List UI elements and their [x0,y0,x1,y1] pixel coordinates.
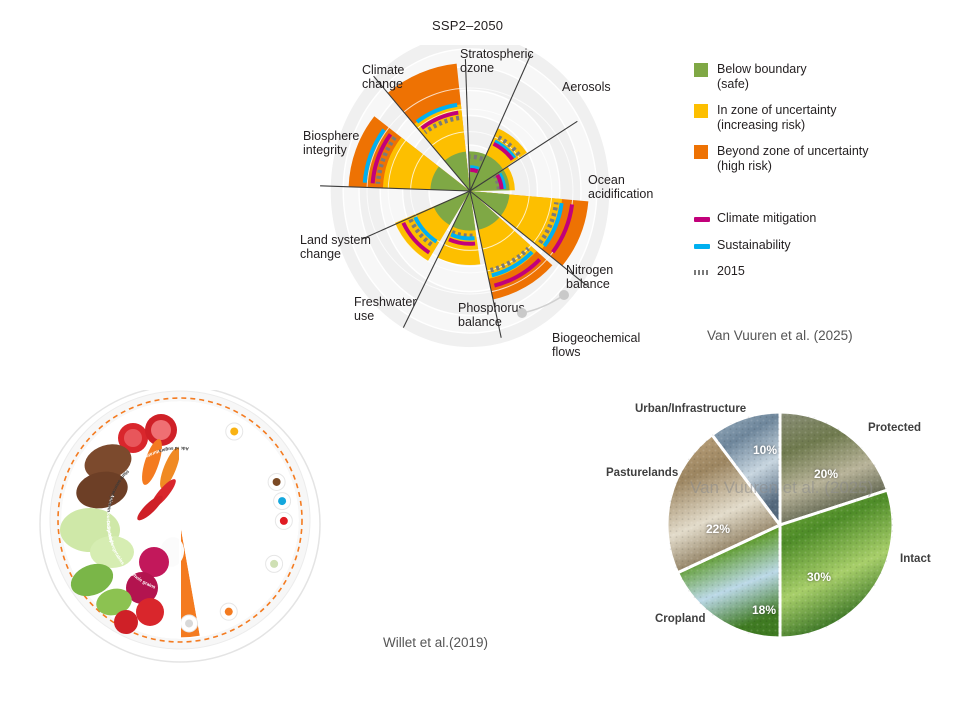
radar-axis-label-line: Land system [300,233,371,247]
radar-axis-label-climate-change: Climatechange [362,63,404,91]
plate-badge-icon-animal-sourced-protein [280,517,288,525]
legend-label-beyond-zone-1: Beyond zone of uncertainty [717,144,869,158]
legend-line-dotted-grey [694,270,710,275]
biogeochemical-flows-label-line: Biogeochemical [552,331,640,345]
planetary-health-plate-panel: Whole grainsStarchy vegetablesDairy food… [30,390,330,670]
pie-label-urban: Urban/Infrastructure [635,403,746,415]
legend-item-2015: 2015 [694,264,944,279]
pie-watermark-citation: Van Vuuren et al. (2025) [690,478,873,498]
radar-axis-label-line: ozone [460,61,494,75]
biogeochemical-dot-right [559,290,569,300]
biogeochemical-flows-label-line: flows [552,345,580,359]
citation-van-vuuren: Van Vuuren et al. (2025) [707,328,853,343]
radar-axis-label-line: change [300,247,341,261]
legend-item-zone-uncertainty: In zone of uncertainty (increasing risk) [694,103,944,132]
radar-axis-label-line: Stratospheric [460,47,534,61]
radar-axis-label-aerosols: Aerosols [562,80,611,94]
legend-label-climate-mitigation: Climate mitigation [717,211,816,226]
plate-badge-icon-dairy-foods [278,497,286,505]
planetary-boundaries-panel: SSP2–2050 ClimatechangeStratosphericozon… [0,0,960,370]
radar-axis-label-line: change [362,77,403,91]
legend-label-sustainability: Sustainability [717,238,791,253]
land-use-pie-chart [600,395,960,660]
radar-axis-label-line: Ocean [588,173,625,187]
pie-pct-intact: 30% [807,570,831,584]
radar-axis-label-line: Freshwater [354,295,417,309]
plate-tomato-slice-2-inner [151,420,171,440]
plate-apple-1 [136,598,164,626]
biogeochemical-dot-left [517,308,527,318]
plate-badge-icon-added-sugars [185,619,193,627]
radar-arc-mitigation-stratospheric-ozone [470,170,478,171]
legend-label-2015: 2015 [717,264,745,279]
pie-pct-cropland: 18% [752,603,776,617]
pie-label-intact: Intact [900,553,931,565]
plate-badge-icon-unsaturated-plant-oils [225,608,233,616]
legend-item-beyond-zone: Beyond zone of uncertainty (high risk) [694,144,944,173]
radar-axis-label-line: integrity [303,143,348,157]
legend-label-below-boundary-2: (safe) [717,77,749,91]
radar-axis-label-line: Phosphorus [458,301,525,315]
plate-badge-icon-plant-sourced-protein [270,560,278,568]
radar-axis-label-line: balance [458,315,502,329]
pie-label-cropland: Cropland [655,613,705,625]
plate-apple-2 [114,610,138,634]
planetary-health-plate-figure: Whole grainsStarchy vegetablesDairy food… [30,390,330,670]
pie-label-protected: Protected [868,422,921,434]
biogeochemical-flows-label: Biogeochemicalflows [552,331,640,359]
legend-label-below-boundary-1: Below boundary [717,62,807,76]
legend-label-beyond-zone-2: (high risk) [717,159,772,173]
radar-axis-label-line: Biosphere [303,129,359,143]
radar-legend: Below boundary (safe) In zone of uncerta… [694,62,944,291]
pie-label-pasturelands: Pasturelands [606,467,678,479]
legend-label-zone-uncertainty-2: (increasing risk) [717,118,805,132]
radar-axis-label-line: Nitrogen [566,263,613,277]
legend-item-below-boundary: Below boundary (safe) [694,62,944,91]
plate-badge-icon-starchy-vegetables [273,478,281,486]
citation-willet: Willet et al.(2019) [383,635,488,650]
radar-chart-title: SSP2–2050 [432,18,503,33]
land-use-pie-panel: Urban/InfrastructureProtectedPastureland… [600,395,960,660]
legend-swatch-yellow [694,104,708,118]
radar-axis-label-line: use [354,309,374,323]
legend-label-zone-uncertainty-1: In zone of uncertainty [717,103,837,117]
legend-item-climate-mitigation: Climate mitigation [694,211,944,226]
plate-tomato-slice-1-inner [124,429,142,447]
pie-pct-pasture: 22% [706,522,730,536]
pie-slices [667,412,893,638]
legend-line-cyan [694,244,710,249]
legend-line-magenta [694,217,710,222]
radar-axis-label-line: balance [566,277,610,291]
legend-item-sustainability: Sustainability [694,238,944,253]
radar-axis-label-line: Aerosols [562,80,611,94]
pie-pct-urban: 10% [753,443,777,457]
radar-axis-label-line: acidification [588,187,653,201]
plate-badge-icon-whole-grains [230,427,238,435]
radar-axis-label-ocean-acidification: Oceanacidification [588,173,653,201]
legend-swatch-green [694,63,708,77]
radar-chart: ClimatechangeStratosphericozoneAerosolsO… [300,45,680,365]
radar-axis-label-line: Climate [362,63,404,77]
legend-swatch-orange [694,145,708,159]
legend-spacer [694,185,944,211]
radar-axis-label-nitrogen-balance: Nitrogenbalance [566,263,613,291]
